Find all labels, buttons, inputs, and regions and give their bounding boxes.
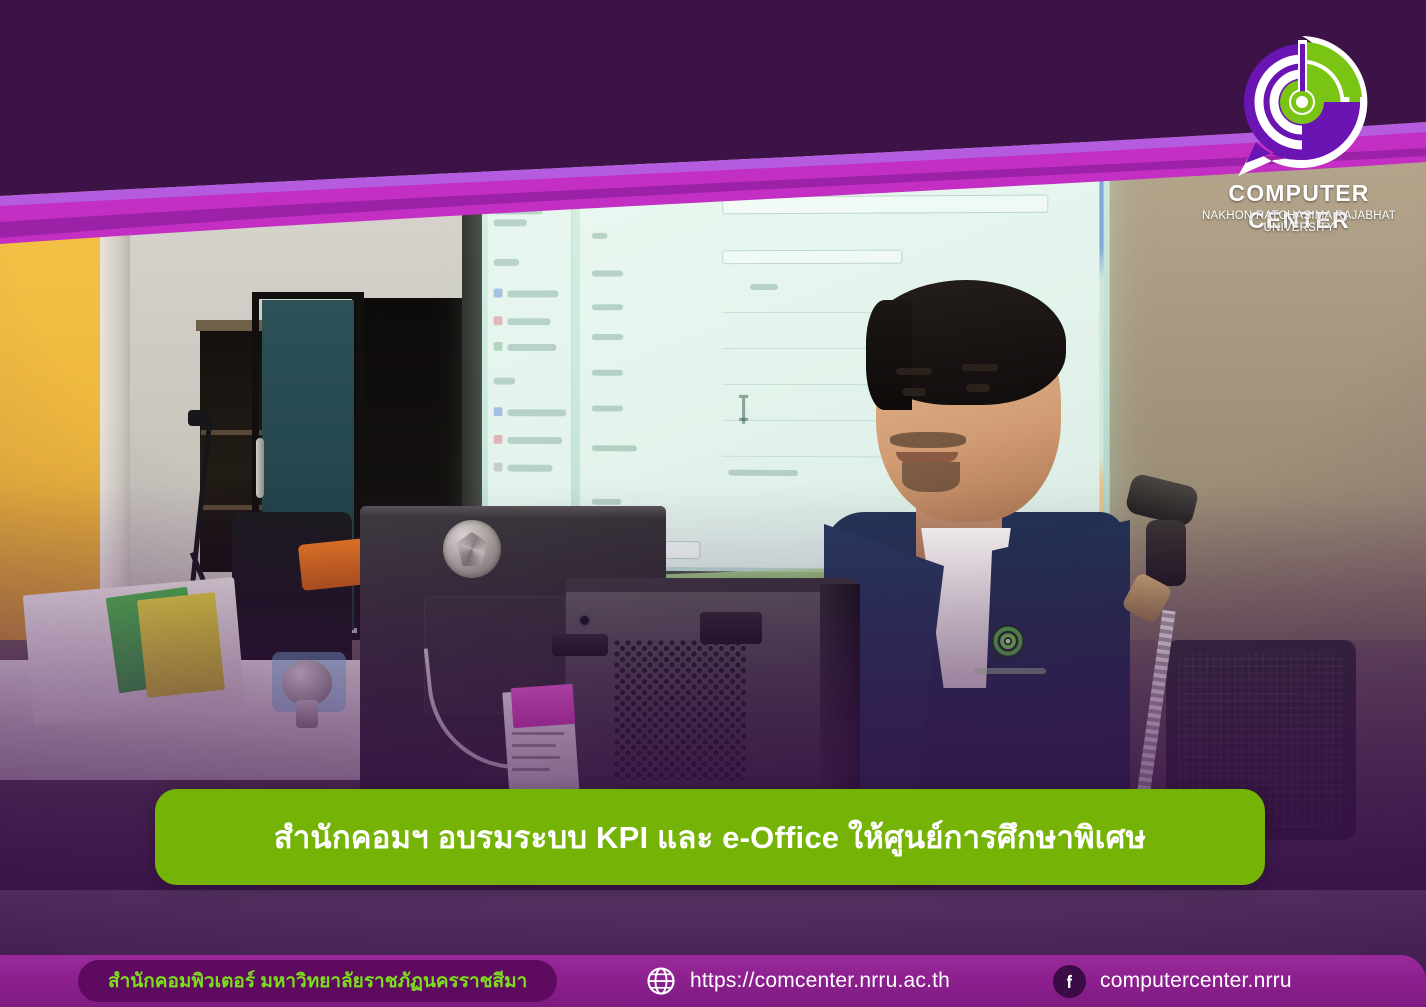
- website-link[interactable]: https://comcenter.nrru.ac.th: [646, 955, 950, 1007]
- computer-center-radar-logo-icon: [1222, 30, 1382, 180]
- facebook-link[interactable]: computercenter.nrru: [1053, 955, 1292, 1007]
- headline-banner: สำนักคอมฯ อบรมระบบ KPI และ e-Office ให้ศ…: [155, 789, 1265, 885]
- headline-text: สำนักคอมฯ อบรมระบบ KPI และ e-Office ให้ศ…: [274, 812, 1146, 862]
- footer-bar: สำนักคอมพิวเตอร์ มหาวิทยาลัยราชภัฏนครราช…: [0, 955, 1426, 1007]
- facebook-handle: computercenter.nrru: [1100, 969, 1292, 993]
- organization-name: สำนักคอมพิวเตอร์ มหาวิทยาลัยราชภัฏนครราช…: [108, 966, 527, 996]
- computer-center-logo: COMPUTER CENTER NAKHON RATCHASIMA RAJABH…: [1186, 30, 1412, 240]
- organization-pill: สำนักคอมพิวเตอร์ มหาวิทยาลัยราชภัฏนครราช…: [78, 960, 557, 1002]
- news-card: NRRU MIS เพิ่มรายการ: [0, 0, 1426, 1007]
- globe-icon: [646, 966, 676, 996]
- facebook-icon: [1053, 965, 1086, 998]
- website-url: https://comcenter.nrru.ac.th: [690, 969, 950, 993]
- logo-subtitle: NAKHON RATCHASIMA RAJABHAT UNIVERSITY: [1186, 210, 1412, 234]
